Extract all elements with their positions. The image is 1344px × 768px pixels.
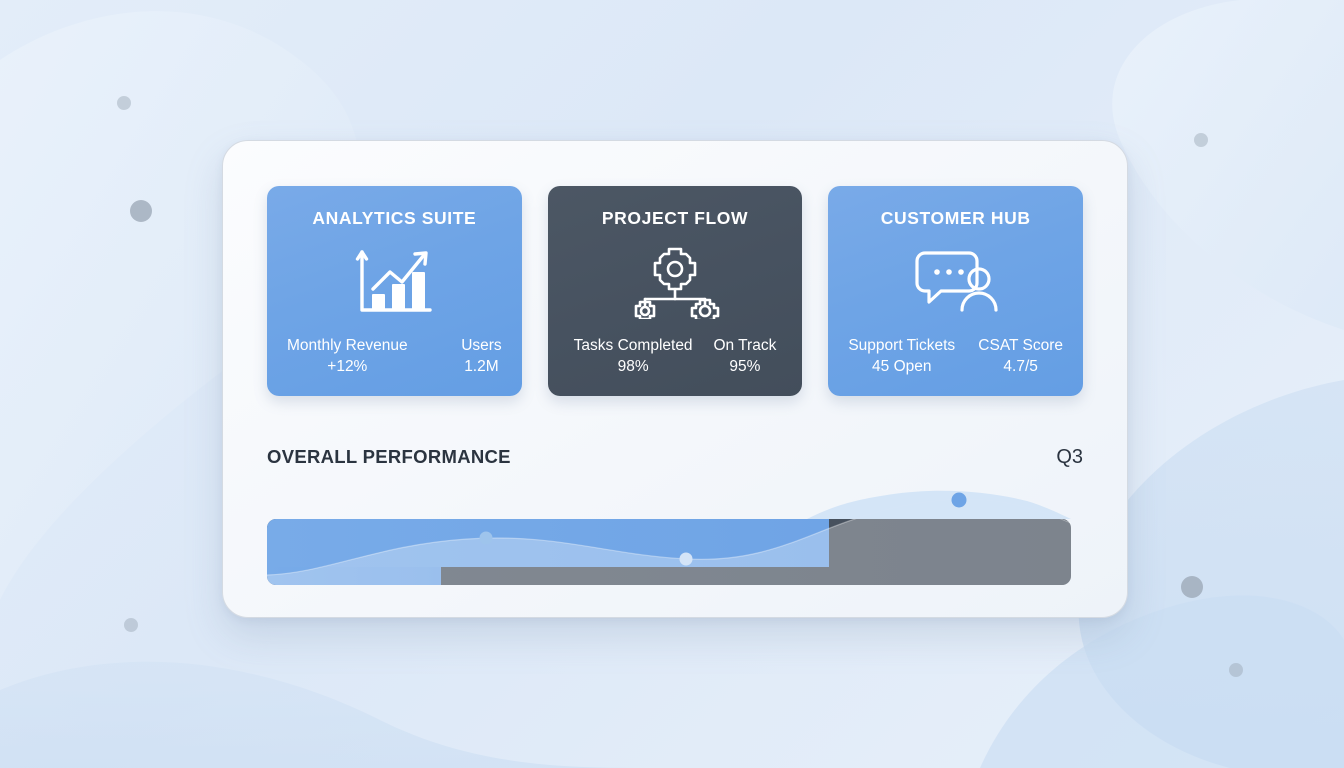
stat-users: Users 1.2M xyxy=(461,335,501,378)
quarter-label: Q3 xyxy=(1056,446,1083,469)
card-title: PROJECT FLOW xyxy=(602,208,748,229)
stat-label: CSAT Score xyxy=(978,335,1063,356)
decorative-dot xyxy=(130,200,152,222)
stat-value: 1.2M xyxy=(461,356,501,378)
stat-tasks-completed: Tasks Completed 98% xyxy=(574,335,693,378)
performance-header: OVERALL PERFORMANCE Q3 xyxy=(267,446,1083,469)
stat-label: On Track xyxy=(713,335,776,356)
gear-hierarchy-icon xyxy=(562,229,789,335)
stat-value: 95% xyxy=(713,356,776,378)
stat-value: 98% xyxy=(574,356,693,378)
data-point-marker xyxy=(680,553,693,566)
card-stats: Tasks Completed 98% On Track 95% xyxy=(562,335,789,378)
data-point-marker xyxy=(952,493,967,508)
stat-label: Tasks Completed xyxy=(574,335,693,356)
performance-chart-svg xyxy=(267,489,1071,585)
decorative-dot xyxy=(1229,663,1243,677)
decorative-dot xyxy=(1194,133,1208,147)
bar-chart-growth-icon xyxy=(281,229,508,335)
data-point-marker xyxy=(480,532,493,545)
chat-person-icon xyxy=(842,229,1069,335)
card-stats: Monthly Revenue +12% Users 1.2M xyxy=(281,335,508,378)
card-title: ANALYTICS SUITE xyxy=(312,208,476,229)
decorative-dot xyxy=(117,96,131,110)
card-project-flow[interactable]: PROJECT FLOW xyxy=(548,186,803,396)
card-title: CUSTOMER HUB xyxy=(881,208,1031,229)
page-title: OVERALL PERFORMANCE xyxy=(267,446,511,468)
stat-on-track: On Track 95% xyxy=(713,335,776,378)
dashboard-panel: ANALYTICS SUITE Monthly Revenue +12% xyxy=(222,140,1128,618)
card-stats: Support Tickets 45 Open CSAT Score 4.7/5 xyxy=(842,335,1069,378)
card-customer-hub[interactable]: CUSTOMER HUB Support Tickets 45 Open C xyxy=(828,186,1083,396)
performance-chart[interactable] xyxy=(267,489,1071,585)
stat-label: Users xyxy=(461,335,501,356)
card-analytics-suite[interactable]: ANALYTICS SUITE Monthly Revenue +12% xyxy=(267,186,522,396)
stat-label: Monthly Revenue xyxy=(287,335,408,356)
stat-monthly-revenue: Monthly Revenue +12% xyxy=(287,335,408,378)
decorative-dot xyxy=(124,618,138,632)
stat-support-tickets: Support Tickets 45 Open xyxy=(848,335,955,378)
stat-csat-score: CSAT Score 4.7/5 xyxy=(978,335,1063,378)
stat-value: 4.7/5 xyxy=(978,356,1063,378)
stat-value: 45 Open xyxy=(848,356,955,378)
metric-cards-row: ANALYTICS SUITE Monthly Revenue +12% xyxy=(267,186,1083,396)
decorative-dot xyxy=(1181,576,1203,598)
stat-value: +12% xyxy=(287,356,408,378)
stat-label: Support Tickets xyxy=(848,335,955,356)
